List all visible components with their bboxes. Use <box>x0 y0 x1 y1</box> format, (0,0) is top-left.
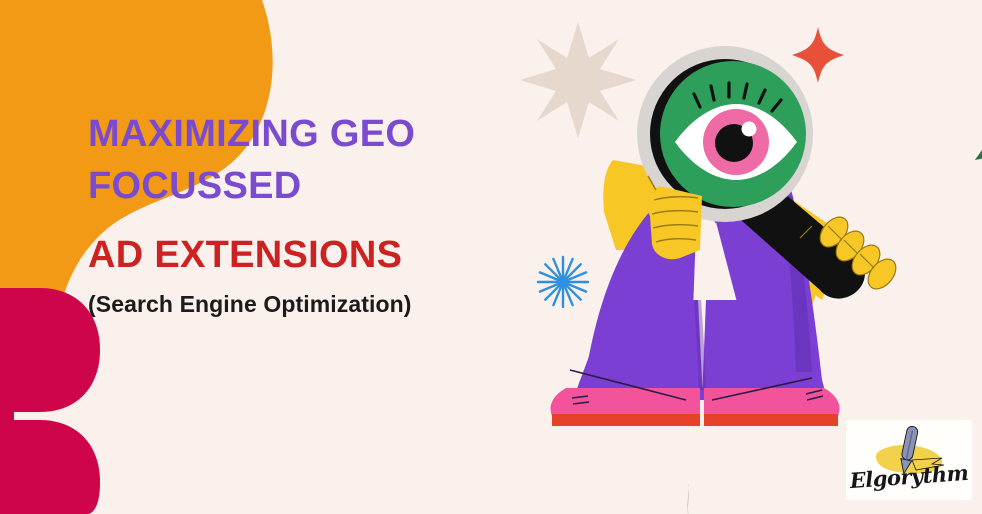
shoe-left <box>551 388 700 416</box>
brand-logo-card[interactable]: Elgorythm <box>846 420 972 500</box>
headline-block: MAXIMIZING GEO FOCUSSED AD EXTENSIONS (S… <box>88 108 518 318</box>
headline-line-1: MAXIMIZING GEO <box>88 113 415 155</box>
logo-mark <box>846 420 972 500</box>
seo-promo-banner: MAXIMIZING GEO FOCUSSED AD EXTENSIONS (S… <box>0 0 982 514</box>
headline-accent-line: AD EXTENSIONS <box>88 229 518 281</box>
shoe-right <box>704 388 839 416</box>
page-title: MAXIMIZING GEO FOCUSSED AD EXTENSIONS <box>88 108 518 281</box>
sole-right <box>704 414 838 426</box>
eye-highlight <box>742 122 757 137</box>
sole-left <box>552 414 700 426</box>
page-subtitle: (Search Engine Optimization) <box>88 291 518 318</box>
headline-line-2: FOCUSSED <box>88 160 518 212</box>
